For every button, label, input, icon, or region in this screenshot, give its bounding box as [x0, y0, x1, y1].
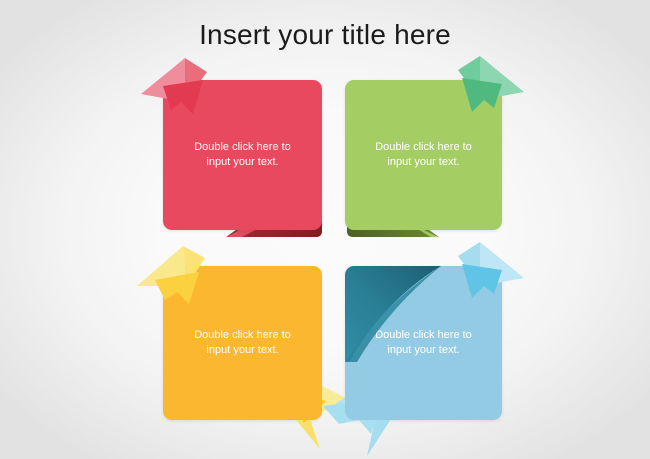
card-blue[interactable]: Double click here to input your text. — [345, 266, 502, 420]
card-blue-surface: Double click here to input your text. — [345, 266, 502, 420]
card-yellow-label[interactable]: Double click here to input your text. — [163, 328, 322, 358]
card-green-surface: Double click here to input your text. — [345, 80, 502, 230]
card-red[interactable]: Double click here to input your text. — [163, 80, 322, 230]
card-yellow-surface: Double click here to input your text. — [163, 266, 322, 420]
card-green-label[interactable]: Double click here to input your text. — [345, 140, 502, 170]
slide-canvas: Insert your title here — [0, 0, 650, 459]
card-yellow[interactable]: Double click here to input your text. — [163, 266, 322, 420]
card-red-label[interactable]: Double click here to input your text. — [163, 140, 322, 170]
card-green[interactable]: Double click here to input your text. — [345, 80, 502, 230]
card-red-surface: Double click here to input your text. — [163, 80, 322, 230]
page-title[interactable]: Insert your title here — [0, 18, 650, 52]
card-blue-label[interactable]: Double click here to input your text. — [345, 328, 502, 358]
